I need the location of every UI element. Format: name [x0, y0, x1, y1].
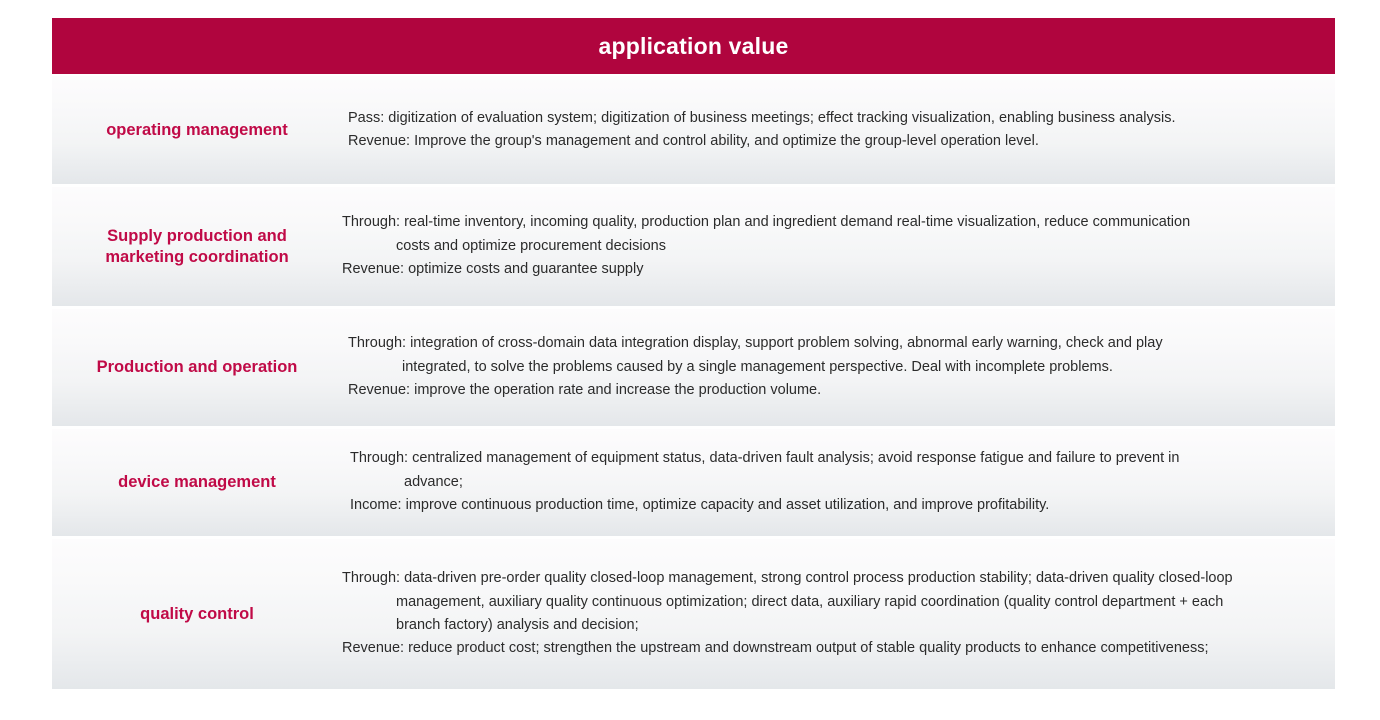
row-label-cell: quality control	[52, 539, 342, 689]
body-line: Revenue: improve the operation rate and …	[348, 379, 1317, 402]
row-label-cell: Production and operation	[52, 309, 342, 426]
row-lines: Through: data-driven pre-order quality c…	[342, 567, 1317, 661]
table-header: application value	[52, 18, 1335, 74]
body-line: Through: integration of cross-domain dat…	[348, 332, 1317, 355]
row-label-text: device management	[118, 472, 276, 493]
table-row: operating management Pass: digitization …	[52, 74, 1335, 184]
table-row: device management Through: centralized m…	[52, 426, 1335, 536]
table-row: Production and operation Through: integr…	[52, 306, 1335, 426]
row-body-cell: Through: integration of cross-domain dat…	[342, 309, 1335, 426]
body-line: Through: centralized management of equip…	[350, 447, 1317, 470]
body-line: Income: improve continuous production ti…	[350, 494, 1317, 517]
row-body-cell: Through: real-time inventory, incoming q…	[342, 187, 1335, 306]
body-line: management, auxiliary quality continuous…	[342, 591, 1317, 614]
body-line: advance;	[350, 471, 1317, 494]
row-label-text: Supply production and marketing coordina…	[105, 226, 288, 267]
row-label-text: operating management	[106, 120, 288, 141]
row-label-cell: Supply production and marketing coordina…	[52, 187, 342, 306]
body-line: Revenue: Improve the group's management …	[348, 130, 1317, 153]
application-value-table: application value operating management P…	[52, 18, 1335, 689]
body-line: Through: data-driven pre-order quality c…	[342, 567, 1317, 590]
body-line: Revenue: optimize costs and guarantee su…	[342, 258, 1317, 281]
page-root: application value operating management P…	[0, 0, 1380, 720]
body-line: Revenue: reduce product cost; strengthen…	[342, 637, 1317, 660]
row-body-cell: Through: centralized management of equip…	[342, 429, 1335, 536]
body-line: costs and optimize procurement decisions	[342, 235, 1317, 258]
body-line: Pass: digitization of evaluation system;…	[348, 107, 1317, 130]
row-label-text: quality control	[140, 604, 254, 625]
row-label-cell: device management	[52, 429, 342, 536]
row-lines: Through: centralized management of equip…	[350, 447, 1317, 517]
row-lines: Pass: digitization of evaluation system;…	[348, 107, 1317, 154]
body-line: Through: real-time inventory, incoming q…	[342, 211, 1317, 234]
body-line: branch factory) analysis and decision;	[342, 614, 1317, 637]
row-lines: Through: integration of cross-domain dat…	[348, 332, 1317, 402]
table-row: Supply production and marketing coordina…	[52, 184, 1335, 306]
page-title: application value	[598, 33, 788, 60]
row-label-cell: operating management	[52, 76, 342, 184]
table-row: quality control Through: data-driven pre…	[52, 536, 1335, 689]
row-body-cell: Through: data-driven pre-order quality c…	[342, 539, 1335, 689]
table-rows: operating management Pass: digitization …	[52, 74, 1335, 689]
body-line: integrated, to solve the problems caused…	[348, 356, 1317, 379]
row-body-cell: Pass: digitization of evaluation system;…	[342, 76, 1335, 184]
row-label-text: Production and operation	[97, 357, 298, 378]
row-lines: Through: real-time inventory, incoming q…	[342, 211, 1317, 281]
